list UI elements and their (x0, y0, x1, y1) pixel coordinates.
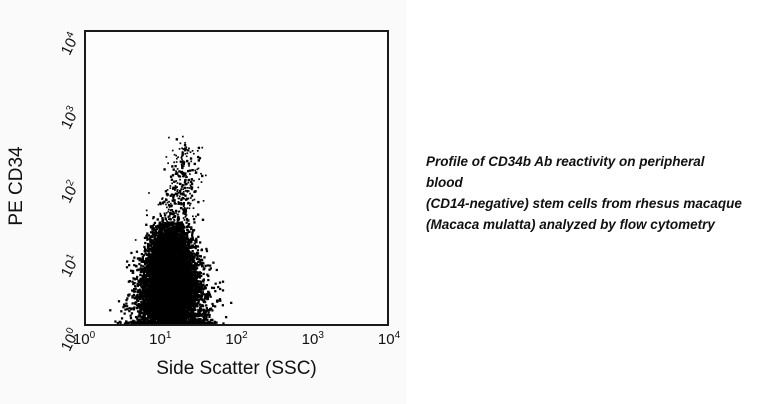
y-tick-label-2: 102 (54, 179, 82, 216)
figure-panel: 100101102103104 100101102103104 Side Sca… (0, 0, 406, 404)
caption-line-3: (Macaca mulatta) analyzed by flow cytome… (426, 215, 742, 236)
x-tick-label-1: 101 (149, 332, 171, 347)
y-tick-label-1: 101 (54, 253, 82, 290)
caption-line-2: (CD14-negative) stem cells from rhesus m… (426, 194, 742, 215)
flow-cytometry-figure: 100101102103104 100101102103104 Side Sca… (0, 0, 765, 404)
figure-caption: Profile of CD34b Ab reactivity on periph… (426, 152, 742, 236)
y-tick-label-4: 104 (54, 31, 82, 68)
caption-line-1: Profile of CD34b Ab reactivity on periph… (426, 152, 742, 194)
scatter-points-layer (86, 32, 387, 324)
x-tick-label-2: 102 (225, 332, 247, 347)
y-tick-label-3: 103 (54, 105, 82, 142)
scatter-plot-area (84, 30, 389, 326)
y-axis-title: PE CD34 (6, 126, 28, 246)
x-tick-label-4: 104 (378, 332, 400, 347)
x-axis-title: Side Scatter (SSC) (84, 358, 389, 380)
x-tick-label-3: 103 (302, 332, 324, 347)
